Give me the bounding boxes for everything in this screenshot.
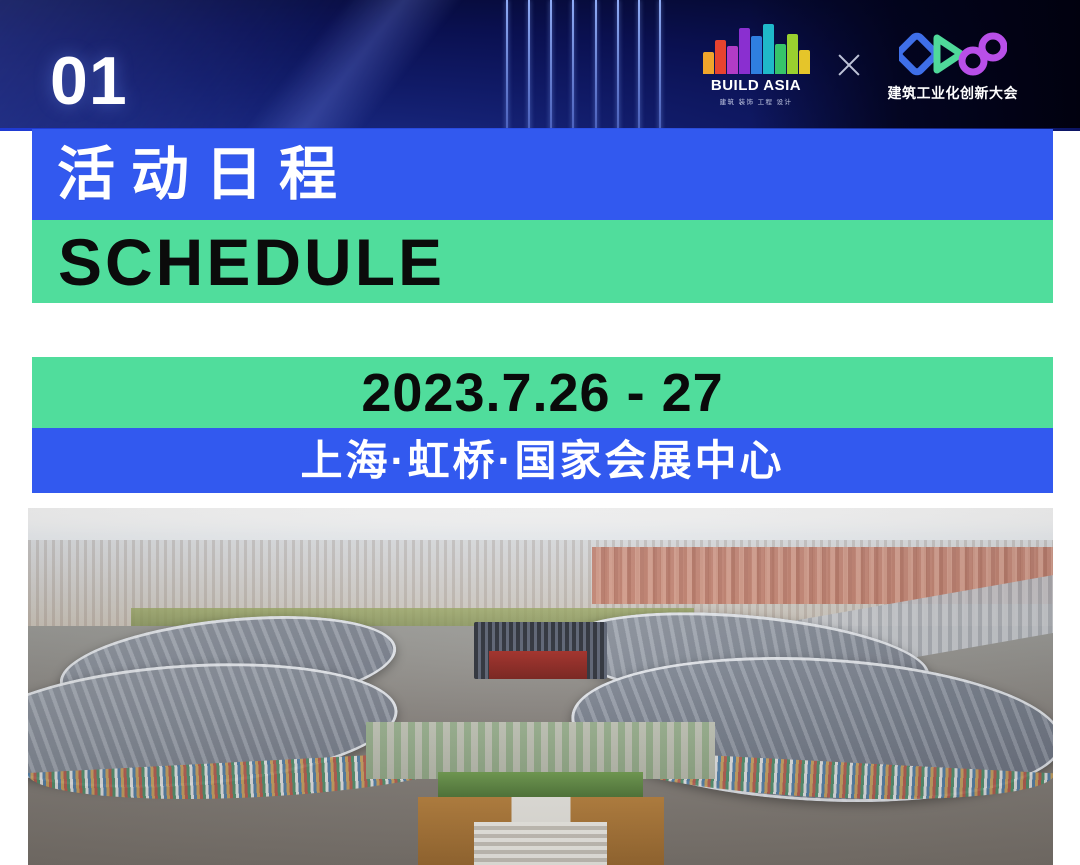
skyline-bars-icon [703, 24, 810, 74]
date-band: 2023.7.26 - 27 [32, 357, 1053, 428]
build-asia-wordmark: BUILD ASIA [711, 77, 801, 94]
chinese-title-band: 活动日程 [32, 129, 1053, 220]
poster-root: 01 BUILD ASIA 建筑 装饰 工程 设计 [0, 0, 1080, 865]
section-number: 01 [50, 47, 128, 115]
build-asia-logo[interactable]: BUILD ASIA 建筑 装饰 工程 设计 [703, 24, 810, 106]
event-date: 2023.7.26 - 27 [361, 366, 723, 420]
chinese-title: 活动日程 [32, 146, 353, 204]
abstract-shapes-icon [899, 28, 1007, 80]
conference-wordmark: 建筑工业化创新大会 [888, 83, 1019, 103]
event-location: 上海·虹桥·国家会展中心 [301, 440, 785, 482]
venue-photo [28, 508, 1053, 865]
industrialization-conference-logo[interactable]: 建筑工业化创新大会 [888, 28, 1019, 103]
build-asia-tagline: 建筑 装饰 工程 设计 [720, 96, 793, 106]
photo-vignette [28, 508, 1053, 865]
x-icon [836, 52, 862, 78]
logo-lockup: BUILD ASIA 建筑 装饰 工程 设计 建筑工业化创新大会 [703, 20, 1019, 110]
english-title-band: SCHEDULE [32, 220, 1053, 303]
english-title: SCHEDULE [32, 229, 445, 295]
location-band: 上海·虹桥·国家会展中心 [32, 428, 1053, 493]
